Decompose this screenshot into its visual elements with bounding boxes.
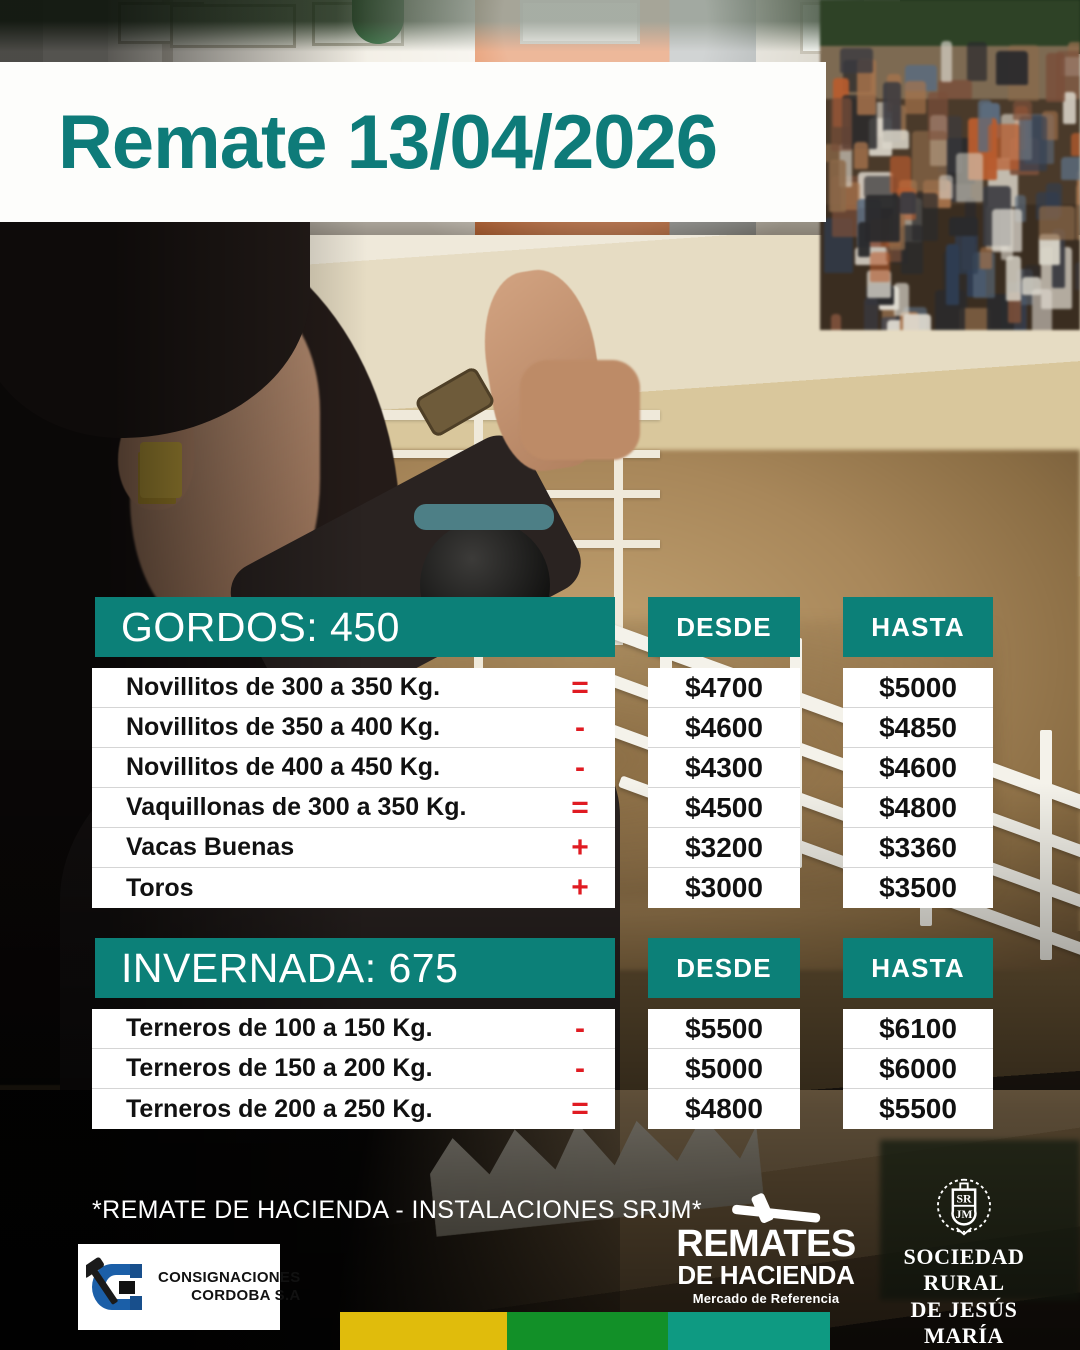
price-cell: $3200 [648,828,800,868]
column-header-desde-gordos: DESDE [648,597,800,657]
svg-text:JM: JM [956,1208,973,1221]
wall-poster [520,0,640,44]
price-value: $4600 [879,752,957,784]
hand-fingers [520,360,640,460]
price-value: $5000 [685,1053,763,1085]
price-value: $4800 [685,1093,763,1125]
remates-line-3: Mercado de Referencia [676,1291,856,1306]
desde-card-invernada: $5500 $5000 $4800 [648,1009,800,1129]
price-value: $4300 [685,752,763,784]
column-header-desde-label: DESDE [676,612,772,643]
row-name: Vacas Buenas [126,833,294,862]
sociedad-rural-logo: SR JM SOCIEDAD RURAL DE JESÚS MARÍA [876,1176,1052,1350]
price-cell: $4800 [843,788,993,828]
trend-indicator: - [563,1012,597,1046]
price-cell: $5500 [648,1009,800,1049]
page-title: Remate 13/04/2026 [58,99,717,186]
footer-note: *REMATE DE HACIENDA - INSTALACIONES SRJM… [92,1196,702,1225]
title-banner: Remate 13/04/2026 [0,62,826,222]
price-value: $4850 [879,712,957,744]
column-header-desde-invernada: DESDE [648,938,800,998]
row-name: Vaquillonas de 300 a 350 Kg. [126,793,466,822]
svg-text:SR: SR [956,1193,972,1206]
section-header-invernada-label: INVERNADA: 675 [95,945,458,992]
price-value: $5500 [879,1093,957,1125]
column-header-hasta-gordos: HASTA [843,597,993,657]
price-cell: $4800 [648,1089,800,1129]
price-value: $6000 [879,1053,957,1085]
cc-monogram-icon [86,1254,152,1320]
table-row[interactable]: Novillitos de 400 a 450 Kg. - [92,748,615,788]
trend-indicator: - [563,751,597,785]
table-row[interactable]: Toros + [92,868,615,908]
remates-line-2: DE HACIENDA [676,1262,856,1289]
wall-poster [118,2,204,44]
cc-line-2: CORDOBA S.A [158,1287,301,1305]
consignaciones-cordoba-logo: CONSIGNACIONES CORDOBA S.A [78,1244,280,1330]
price-cell: $5000 [843,668,993,708]
price-cell: $4600 [648,708,800,748]
section-header-gordos-label: GORDOS: 450 [95,604,400,651]
color-swatch-teal [668,1312,830,1350]
earring [140,442,182,498]
trend-indicator: = [563,791,597,825]
remates-de-hacienda-logo: REMATES DE HACIENDA Mercado de Referenci… [676,1192,856,1306]
table-row[interactable]: Terneros de 200 a 250 Kg. = [92,1089,615,1129]
row-name: Terneros de 100 a 150 Kg. [126,1014,433,1043]
section-header-invernada: INVERNADA: 675 [95,938,615,998]
price-value: $5500 [685,1013,763,1045]
price-cell: $4850 [843,708,993,748]
srjm-line-2: DE JESÚS MARÍA [876,1297,1052,1350]
row-name: Novillitos de 350 a 400 Kg. [126,713,440,742]
price-cell: $4500 [648,788,800,828]
price-cell: $3360 [843,828,993,868]
cc-line-1: CONSIGNACIONES [158,1269,301,1287]
color-swatch-yellow [340,1312,507,1350]
gavel-icon [676,1192,856,1226]
trend-indicator: + [563,871,597,905]
price-value: $5000 [879,672,957,704]
price-cell: $6000 [843,1049,993,1089]
table-row[interactable]: Vacas Buenas + [92,828,615,868]
wall-emblem [352,0,404,44]
price-cell: $3500 [843,868,993,908]
price-value: $3200 [685,832,763,864]
row-name: Novillitos de 400 a 450 Kg. [126,753,440,782]
desde-card-gordos: $4700 $4600 $4300 $4500 $3200 $3000 [648,668,800,908]
wall-poster [312,2,404,46]
price-value: $4500 [685,792,763,824]
price-value: $3360 [879,832,957,864]
trend-indicator: = [563,1092,597,1126]
hasta-card-invernada: $6100 $6000 $5500 [843,1009,993,1129]
srjm-name: SOCIEDAD RURAL DE JESÚS MARÍA [876,1244,1052,1350]
consignaciones-cordoba-text: CONSIGNACIONES CORDOBA S.A [158,1269,301,1304]
table-row[interactable]: Novillitos de 300 a 350 Kg. = [92,668,615,708]
names-card-invernada: Terneros de 100 a 150 Kg. - Terneros de … [92,1009,615,1129]
price-value: $4800 [879,792,957,824]
trend-indicator: - [563,711,597,745]
column-header-hasta-invernada: HASTA [843,938,993,998]
fence-post [1040,730,1052,960]
table-row[interactable]: Vaquillonas de 300 a 350 Kg. = [92,788,615,828]
trend-indicator: + [563,831,597,865]
column-header-desde-label: DESDE [676,953,772,984]
price-value: $4700 [685,672,763,704]
row-name: Novillitos de 300 a 350 Kg. [126,673,440,702]
price-value: $3000 [685,872,763,904]
price-cell: $5000 [648,1049,800,1089]
price-cell: $4600 [843,748,993,788]
row-name: Toros [126,874,194,903]
hasta-card-gordos: $5000 $4850 $4600 $4800 $3360 $3500 [843,668,993,908]
srjm-shield-icon: SR JM [876,1176,1052,1238]
price-value: $4600 [685,712,763,744]
srjm-line-1: SOCIEDAD RURAL [876,1244,1052,1297]
column-header-hasta-label: HASTA [871,953,965,984]
price-value: $6100 [879,1013,957,1045]
trend-indicator: = [563,671,597,705]
price-cell: $4700 [648,668,800,708]
price-cell: $5500 [843,1089,993,1129]
table-row[interactable]: Terneros de 100 a 150 Kg. - [92,1009,615,1049]
trend-indicator: - [563,1052,597,1086]
price-value: $3500 [879,872,957,904]
row-name: Terneros de 150 a 200 Kg. [126,1054,433,1083]
price-cell: $6100 [843,1009,993,1049]
color-swatch-green [507,1312,669,1350]
column-header-hasta-label: HASTA [871,612,965,643]
crowd-stands [820,0,1080,330]
remates-line-1: REMATES [676,1226,856,1262]
wall-poster [170,4,296,48]
price-cell: $4300 [648,748,800,788]
price-cell: $3000 [648,868,800,908]
brand-color-bar [340,1312,830,1350]
table-row[interactable]: Novillitos de 350 a 400 Kg. - [92,708,615,748]
names-card-gordos: Novillitos de 300 a 350 Kg. = Novillitos… [92,668,615,908]
section-header-gordos: GORDOS: 450 [95,597,615,657]
row-name: Terneros de 200 a 250 Kg. [126,1095,433,1124]
table-row[interactable]: Terneros de 150 a 200 Kg. - [92,1049,615,1089]
